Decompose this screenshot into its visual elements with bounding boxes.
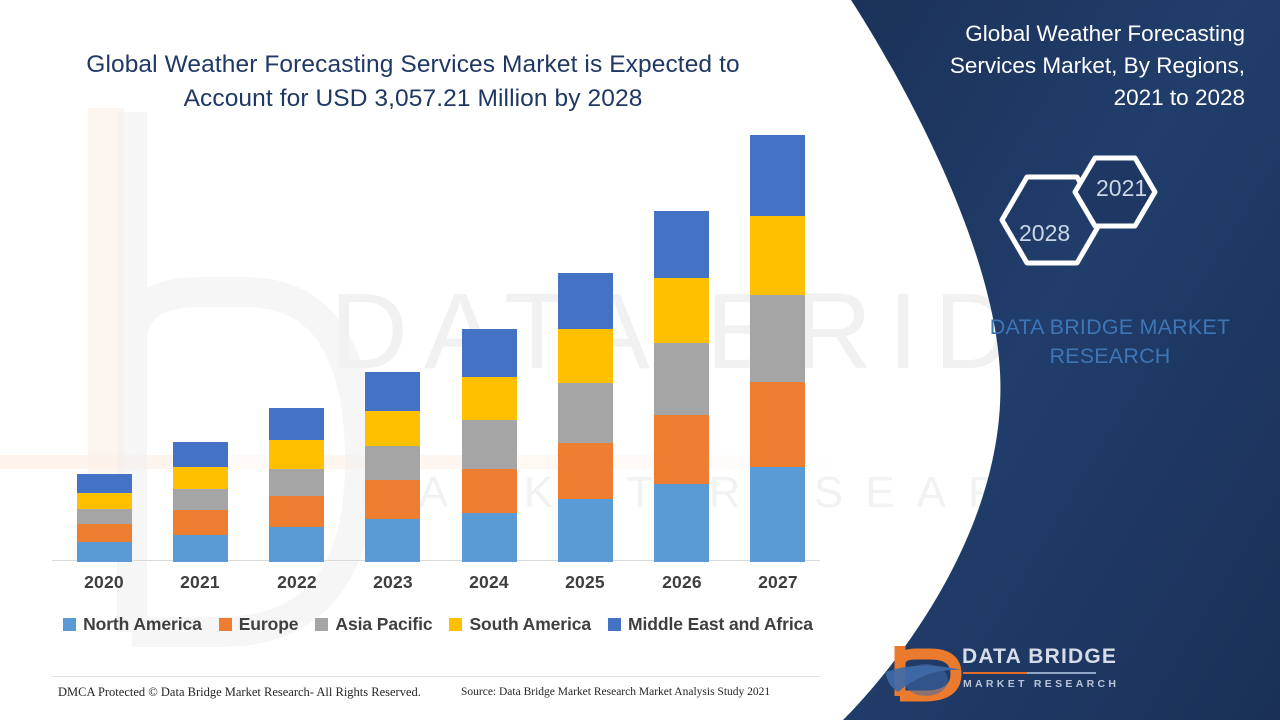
footer-source: Source: Data Bridge Market Research Mark… [461,686,770,698]
x-axis-label-2026: 2026 [637,572,727,593]
legend-item-asia-pacific[interactable]: Asia Pacific [315,614,432,635]
bar-segment-north-america-2023 [365,519,420,562]
bar-segment-north-america-2024 [462,513,517,562]
panel-title: Global Weather Forecasting Services Mark… [920,18,1245,114]
hexagon-2028-label: 2028 [1019,220,1070,247]
bar-segment-asia-pacific-2023 [365,446,420,480]
bar-segment-south-america-2027 [750,216,805,295]
bar-segment-middle-east-and-africa-2026 [654,211,709,278]
bar-segment-asia-pacific-2024 [462,420,517,469]
bar-segment-asia-pacific-2022 [269,469,324,496]
logo-subtitle: MARKET RESEARCH [963,678,1119,690]
bar-segment-europe-2022 [269,496,324,527]
legend-swatch-icon [219,618,232,631]
bar-segment-europe-2021 [173,510,228,535]
footer-copyright: DMCA Protected © Data Bridge Market Rese… [58,685,421,700]
bar-segment-middle-east-and-africa-2025 [558,273,613,329]
bar-segment-middle-east-and-africa-2020 [77,474,132,492]
legend-label: Middle East and Africa [628,614,813,635]
legend-swatch-icon [315,618,328,631]
bar-segment-europe-2027 [750,382,805,467]
bar-segment-south-america-2024 [462,377,517,420]
bar-segment-europe-2023 [365,480,420,519]
x-axis-label-2022: 2022 [252,572,342,593]
bar-segment-south-america-2022 [269,440,324,469]
x-axis-label-2021: 2021 [155,572,245,593]
bar-segment-middle-east-and-africa-2024 [462,329,517,377]
legend-swatch-icon [63,618,76,631]
bar-segment-europe-2026 [654,415,709,484]
legend-label: South America [469,614,591,635]
logo-title: DATA BRIDGE [962,645,1117,669]
legend-label: Asia Pacific [335,614,432,635]
legend-swatch-icon [608,618,621,631]
footer-divider [52,676,820,677]
bar-segment-south-america-2023 [365,411,420,446]
bar-segment-north-america-2025 [558,499,613,562]
bar-2024 [462,329,517,562]
bar-2023 [365,372,420,562]
legend-label: Europe [239,614,299,635]
bar-segment-europe-2024 [462,469,517,513]
bar-segment-north-america-2021 [173,535,228,562]
bar-segment-asia-pacific-2021 [173,489,228,510]
bar-segment-north-america-2026 [654,484,709,562]
stacked-bar-chart [52,150,822,562]
bar-segment-asia-pacific-2025 [558,383,613,443]
legend-item-south-america[interactable]: South America [449,614,591,635]
x-axis-label-2024: 2024 [444,572,534,593]
bar-segment-south-america-2021 [173,467,228,490]
bar-2022 [269,408,324,562]
bar-segment-middle-east-and-africa-2023 [365,372,420,411]
panel-brand-line2: RESEARCH [1049,344,1170,368]
x-axis-label-2027: 2027 [733,572,823,593]
bar-2020 [77,474,132,562]
panel-brand-text: DATA BRIDGE MARKET RESEARCH [960,313,1260,370]
bar-segment-middle-east-and-africa-2027 [750,135,805,216]
hexagon-badges [975,150,1185,280]
bar-segment-south-america-2026 [654,278,709,343]
chart-x-axis-labels: 20202021202220232024202520262027 [52,572,822,602]
slide-root: DATA BRIDGE MARKET RESEARCH Global Weath… [0,0,1280,720]
bar-segment-middle-east-and-africa-2022 [269,408,324,439]
bar-segment-north-america-2022 [269,527,324,562]
bar-2021 [173,442,228,562]
legend-item-middle-east-and-africa[interactable]: Middle East and Africa [608,614,813,635]
bar-segment-asia-pacific-2027 [750,295,805,382]
panel-brand-line1: DATA BRIDGE MARKET [990,315,1231,339]
legend-item-europe[interactable]: Europe [219,614,299,635]
logo-underline [963,672,1096,674]
x-axis-label-2025: 2025 [540,572,630,593]
bar-segment-north-america-2020 [77,542,132,562]
legend-label: North America [83,614,202,635]
page-title: Global Weather Forecasting Services Mark… [60,48,766,116]
bar-segment-europe-2025 [558,443,613,499]
hexagon-2021-label: 2021 [1096,175,1147,202]
bar-segment-asia-pacific-2026 [654,343,709,415]
legend-swatch-icon [449,618,462,631]
bar-segment-south-america-2020 [77,493,132,509]
chart-legend: North AmericaEuropeAsia PacificSouth Ame… [52,614,824,635]
bar-segment-europe-2020 [77,524,132,542]
bar-segment-north-america-2027 [750,467,805,562]
x-axis-label-2020: 2020 [59,572,149,593]
bar-segment-middle-east-and-africa-2021 [173,442,228,467]
legend-item-north-america[interactable]: North America [63,614,202,635]
x-axis-label-2023: 2023 [348,572,438,593]
bar-2027 [750,135,805,562]
bar-2026 [654,211,709,562]
bar-2025 [558,273,613,562]
bar-segment-south-america-2025 [558,329,613,383]
bar-segment-asia-pacific-2020 [77,509,132,524]
